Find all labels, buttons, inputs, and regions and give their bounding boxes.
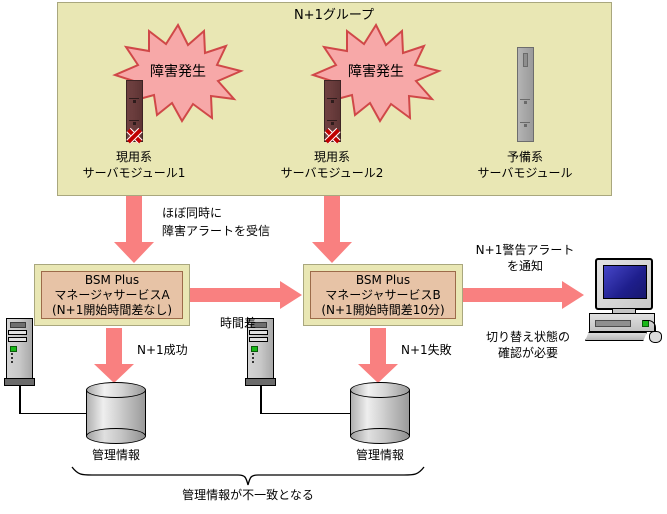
alert-note-line1: ほぼ同時に: [162, 206, 222, 221]
bsm-plus-service-a-box[interactable]: BSM Plus マネージャサービスA (N+1開始時間差なし): [34, 264, 190, 326]
server-tower-icon-a: [4, 318, 35, 388]
service-b-line3: (N+1開始時間差10分): [321, 303, 444, 318]
burst-label: 障害発生: [310, 61, 442, 81]
spare-module-caption-line2: サーバモジュール: [477, 166, 572, 181]
database-b-label: 管理情報: [356, 448, 404, 463]
group-panel-title: N+1グループ: [294, 8, 374, 23]
spare-module-caption-line1: 予備系: [507, 150, 543, 165]
module-2-caption-line2: サーバモジュール2: [281, 166, 384, 181]
bottom-caption: 管理情報が不一致となる: [182, 488, 314, 503]
alert-note-line2: 障害アラートを受信: [162, 224, 270, 239]
notify-arrow: [463, 281, 585, 309]
result-label-b: N+1失敗: [401, 343, 452, 358]
service-a-line3: (N+1開始時間差なし): [52, 303, 172, 318]
burst-label: 障害発生: [112, 61, 244, 81]
alert-arrow-down-2: [310, 196, 354, 264]
service-a-line2: マネージャサービスA: [54, 288, 169, 303]
time-gap-arrow: [190, 281, 303, 309]
diagram-canvas: N+1グループ 障害発生 現用系 サーバモジュール1 障害発生 現用系 サーバモ…: [0, 0, 667, 514]
result-arrow-down-a: [92, 328, 136, 384]
service-b-title: BSM Plus: [356, 273, 410, 288]
inconsistency-brace: [70, 465, 426, 487]
spare-server-module-blade: [517, 47, 534, 142]
tower-a-connector-vertical: [19, 386, 21, 414]
bsm-plus-service-b-inner: BSM Plus マネージャサービスB (N+1開始時間差10分): [310, 271, 456, 319]
result-arrow-down-b: [356, 328, 400, 384]
bsm-plus-service-b-box[interactable]: BSM Plus マネージャサービスB (N+1開始時間差10分): [303, 264, 463, 326]
module-1-caption-line1: 現用系: [116, 150, 152, 165]
alert-arrow-down-1: [112, 196, 156, 264]
database-a-label: 管理情報: [92, 448, 140, 463]
red-x-icon: [125, 125, 143, 143]
service-b-line2: マネージャサービスB: [325, 288, 440, 303]
database-cylinder-icon-b: [350, 382, 410, 444]
time-gap-label: 時間差: [220, 316, 256, 331]
check-note-line1: 切り替え状態の: [486, 330, 570, 345]
module-1-caption-line2: サーバモジュール1: [83, 166, 186, 181]
desktop-pc-icon: [585, 258, 665, 344]
notify-note-line1: N+1警告アラート: [476, 243, 575, 258]
module-2-caption-line1: 現用系: [314, 150, 350, 165]
result-label-a: N+1成功: [137, 343, 188, 358]
red-x-icon: [323, 125, 341, 143]
tower-b-connector-vertical: [260, 386, 262, 414]
bsm-plus-service-a-inner: BSM Plus マネージャサービスA (N+1開始時間差なし): [41, 271, 183, 319]
check-note-line2: 確認が必要: [498, 346, 558, 361]
notify-note-line2: を通知: [507, 259, 543, 274]
service-a-title: BSM Plus: [85, 273, 139, 288]
database-cylinder-icon-a: [86, 382, 146, 444]
